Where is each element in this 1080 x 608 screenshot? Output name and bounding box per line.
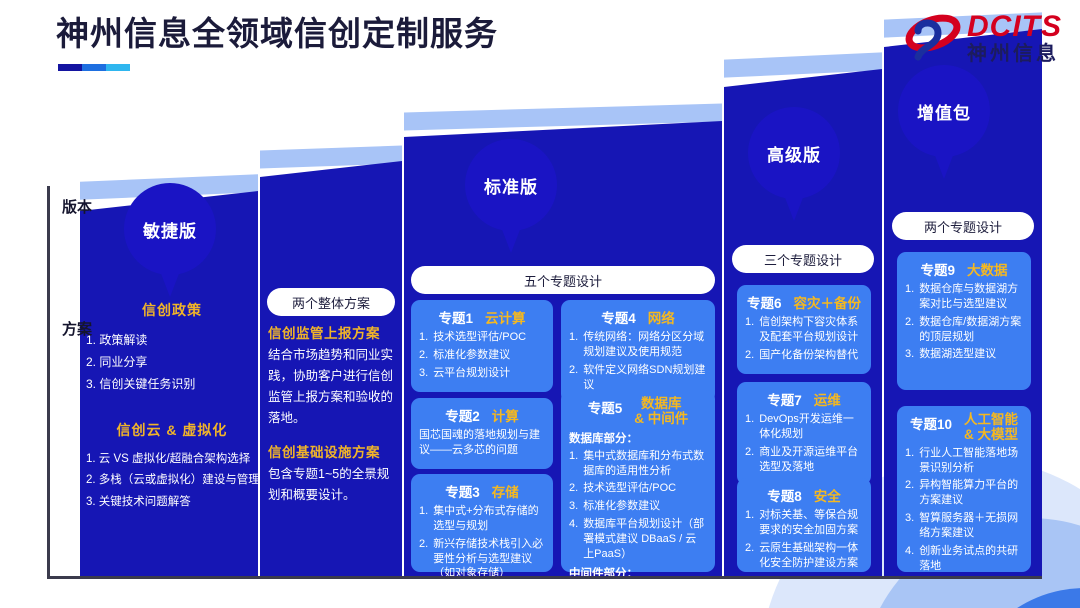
item-number: 1.	[905, 446, 914, 476]
card-header: 专题8 安全	[745, 485, 863, 505]
pin-head-icon: 标准版	[465, 139, 557, 231]
arc-inner	[960, 588, 1080, 608]
item-text: 国产化备份架构替代	[759, 348, 863, 363]
list-item: 2.云原生基础架构一体化安全防护建设方案	[745, 541, 863, 571]
list-item: 1.行业人工智能落地场景识别分析	[905, 446, 1023, 476]
col2-pill-header: 两个整体方案	[267, 288, 395, 316]
topic-card-10[interactable]: 专题10 人工智能 & 大模型 1.行业人工智能落地场景识别分析 2.异构智能算…	[897, 406, 1031, 572]
item-text: 新兴存储技术栈引入必要性分析与选型建议（如对象存储）	[433, 537, 545, 582]
list-item: 2. 同业分享	[86, 351, 258, 373]
item-number: 3.	[905, 347, 914, 362]
spacer	[268, 429, 396, 441]
card-number: 专题3	[445, 481, 480, 501]
item-text: 技术选型评估/POC	[583, 481, 707, 496]
item-number: 2.	[569, 481, 578, 496]
rule-seg-1	[58, 64, 82, 71]
card-list: 1.集中式+分布式存储的选型与规划 2.新兴存储技术栈引入必要性分析与选型建议（…	[419, 504, 545, 581]
col1-block-policy: 信创政策 1. 政策解读 2. 同业分享 3. 信创关键任务识别	[86, 300, 258, 396]
item-number: 4.	[905, 544, 914, 574]
item-text: 数据仓库与数据湖方案对比与选型建议	[919, 282, 1023, 312]
card-topic: 人工智能 & 大模型	[964, 413, 1018, 443]
card-header: 专题3 存储	[419, 481, 545, 501]
list-item: 1.集中式+分布式存储的选型与规划	[419, 504, 545, 534]
card-number: 专题4	[601, 307, 636, 327]
card-header: 专题1 云计算	[419, 307, 545, 327]
col3-pill-header: 五个专题设计	[411, 266, 715, 294]
item-number: 2.	[419, 348, 428, 363]
pin-marker-valueadd[interactable]: 增值包	[898, 65, 990, 183]
item-number: 2.	[745, 445, 754, 475]
item-text: DevOps开发运维一体化规划	[759, 412, 863, 442]
pin-head-icon: 增值包	[898, 65, 990, 157]
list-item: 3.云平台规划设计	[419, 366, 545, 381]
card-topic: 容灾＋备份	[794, 292, 862, 312]
rule-seg-3	[106, 64, 130, 71]
item-number: 1.	[569, 449, 578, 479]
col1-block2-list: 1. 云 VS 虚拟化/超融合架构选择 2. 多栈（云或虚拟化）建设与管理 3.…	[86, 449, 258, 513]
col1-block1-list: 1. 政策解读 2. 同业分享 3. 信创关键任务识别	[86, 329, 258, 396]
col2-block1-body: 结合市场趋势和同业实践，协助客户进行信创监管上报方案和验收的落地。	[268, 345, 396, 429]
card-list: 1.数据仓库与数据湖方案对比与选型建议 2.数据仓库/数据湖方案的顶层规划 3.…	[905, 282, 1023, 362]
card-number: 专题9	[920, 259, 955, 279]
logo-cn: 神州信息	[967, 44, 1062, 64]
card-header: 专题10 人工智能 & 大模型	[905, 413, 1023, 443]
col1-block2-heading: 信创云 & 虚拟化	[86, 420, 258, 440]
card-topic: 存储	[492, 481, 519, 501]
pin-marker-agile[interactable]: 敏捷版	[124, 183, 216, 301]
item-text: 云原生基础架构一体化安全防护建设方案	[759, 541, 863, 571]
item-number: 2.	[745, 541, 754, 571]
card-topic-line1: 人工智能	[964, 412, 1018, 427]
list-item: 1.技术选型评估/POC	[419, 330, 545, 345]
topic-card-5[interactable]: 专题5 数据库 & 中间件 数据库部分： 1.集中式数据库和分布式数据库的适用性…	[561, 390, 715, 572]
card-list: 1.集中式数据库和分布式数据库的适用性分析 2.技术选型评估/POC 3.标准化…	[569, 449, 707, 562]
logo-text: DCITS 神州信息	[967, 10, 1062, 64]
list-item: 2. 多栈（云或虚拟化）建设与管理	[86, 470, 258, 491]
card-header: 专题9 大数据	[905, 259, 1023, 279]
item-number: 3.	[569, 499, 578, 514]
item-number: 1.	[569, 330, 578, 360]
item-number: 3.	[905, 511, 914, 541]
card-topic: 网络	[648, 307, 675, 327]
topic-card-3[interactable]: 专题3 存储 1.集中式+分布式存储的选型与规划 2.新兴存储技术栈引入必要性分…	[411, 474, 553, 572]
card-header: 专题7 运维	[745, 389, 863, 409]
col2-block2-heading: 信创基础设施方案	[268, 441, 396, 461]
card-list: 1.行业人工智能落地场景识别分析 2.异构智能算力平台的方案建议 3.智算服务器…	[905, 446, 1023, 574]
list-item: 2.国产化备份架构替代	[745, 348, 863, 363]
card-number: 专题8	[767, 485, 802, 505]
pin-label: 敏捷版	[143, 217, 197, 242]
card-topic: 计算	[492, 405, 519, 425]
col2-block1-heading: 信创监管上报方案	[268, 322, 396, 342]
card-number: 专题1	[438, 307, 473, 327]
item-number: 2.	[905, 315, 914, 345]
topic-card-8[interactable]: 专题8 安全 1.对标关基、等保合规要求的安全加固方案 2.云原生基础架构一体化…	[737, 478, 871, 572]
list-item: 1.传统网络：网络分区分域规划建议及使用规范	[569, 330, 707, 360]
item-text: 集中式数据库和分布式数据库的适用性分析	[583, 449, 707, 479]
item-text: 信创架构下容灾体系及配套平台规划设计	[759, 315, 863, 345]
card-list: 1.传统网络：网络分区分域规划建议及使用规范 2.软件定义网络SDN规划建议	[569, 330, 707, 392]
axis-vertical	[47, 186, 50, 578]
list-item: 1.对标关基、等保合规要求的安全加固方案	[745, 508, 863, 538]
list-item: 4.数据库平台规划设计（部署模式建议 DBaaS / 云上PaaS）	[569, 517, 707, 562]
card-header: 专题2 计算	[419, 405, 545, 425]
item-text: 标准化参数建议	[433, 348, 545, 363]
list-item: 2.数据仓库/数据湖方案的顶层规划	[905, 315, 1023, 345]
item-text: 智算服务器＋无损网络方案建议	[919, 511, 1023, 541]
item-text: 云平台规划设计	[433, 366, 545, 381]
card-number: 专题5	[588, 397, 623, 417]
item-text: 软件定义网络SDN规划建议	[583, 363, 707, 393]
pin-head-icon: 高级版	[748, 107, 840, 199]
list-item: 2.标准化参数建议	[419, 348, 545, 363]
card-topic: 云计算	[485, 307, 526, 327]
rule-seg-2	[82, 64, 106, 71]
topic-card-2[interactable]: 专题2 计算 国芯国魂的落地规划与建议——云多芯的问题	[411, 398, 553, 469]
item-number: 2.	[745, 348, 754, 363]
card-body: 国芯国魂的落地规划与建议——云多芯的问题	[419, 428, 545, 458]
item-number: 1.	[745, 508, 754, 538]
title-block: 神州信息全领域信创定制服务	[56, 14, 498, 71]
list-item: 1.数据仓库与数据湖方案对比与选型建议	[905, 282, 1023, 312]
list-item: 3. 信创关键任务识别	[86, 373, 258, 395]
card-topic: 运维	[814, 389, 841, 409]
col2-block2-body: 包含专题1~5的全景规划和概要设计。	[268, 464, 396, 506]
card-topic-line1: 数据库	[641, 396, 682, 411]
item-text: 异构智能算力平台的方案建议	[919, 478, 1023, 508]
card-list: 1.对标关基、等保合规要求的安全加固方案 2.云原生基础架构一体化安全防护建设方…	[745, 508, 863, 570]
logo-en: DCITS	[967, 12, 1062, 42]
list-item: 1. 云 VS 虚拟化/超融合架构选择	[86, 449, 258, 470]
list-item: 1. 政策解读	[86, 329, 258, 351]
topic-card-9[interactable]: 专题9 大数据 1.数据仓库与数据湖方案对比与选型建议 2.数据仓库/数据湖方案…	[897, 252, 1031, 390]
item-number: 2.	[905, 478, 914, 508]
topic-card-4[interactable]: 专题4 网络 1.传统网络：网络分区分域规划建议及使用规范 2.软件定义网络SD…	[561, 300, 715, 403]
list-item: 2.异构智能算力平台的方案建议	[905, 478, 1023, 508]
col1-block-cloud: 信创云 & 虚拟化 1. 云 VS 虚拟化/超融合架构选择 2. 多栈（云或虚拟…	[86, 420, 258, 513]
axis-label-version: 版本	[62, 196, 92, 217]
item-text: 创新业务试点的共研落地	[919, 544, 1023, 574]
item-text: 标准化参数建议	[583, 499, 707, 514]
page-title: 神州信息全领域信创定制服务	[56, 14, 498, 54]
axis-label-plan: 方案	[62, 318, 92, 339]
item-number: 3.	[419, 366, 428, 381]
card-topic-line2: & 大模型	[964, 427, 1018, 442]
axis-horizontal	[47, 576, 1042, 579]
pin-head-icon: 敏捷版	[124, 183, 216, 275]
item-text: 数据库平台规划设计（部署模式建议 DBaaS / 云上PaaS）	[583, 517, 707, 562]
company-logo: DCITS 神州信息	[905, 10, 1062, 64]
pin-marker-advanced[interactable]: 高级版	[748, 107, 840, 225]
card-topic-line2: & 中间件	[634, 411, 688, 426]
item-number: 2.	[419, 537, 428, 582]
item-number: 4.	[569, 517, 578, 562]
card-subheading-1: 数据库部分：	[569, 430, 707, 446]
card-header: 专题4 网络	[569, 307, 707, 327]
item-text: 对标关基、等保合规要求的安全加固方案	[759, 508, 863, 538]
topic-card-7[interactable]: 专题7 运维 1.DevOps开发运维一体化规划 2.商业及开源运维平台选型及落…	[737, 382, 871, 485]
item-text: 集中式+分布式存储的选型与规划	[433, 504, 545, 534]
card-header: 专题6 容灾＋备份	[745, 292, 863, 312]
list-item: 1.信创架构下容灾体系及配套平台规划设计	[745, 315, 863, 345]
list-item: 2.商业及开源运维平台选型及落地	[745, 445, 863, 475]
list-item: 4.创新业务试点的共研落地	[905, 544, 1023, 574]
pin-marker-standard[interactable]: 标准版	[465, 139, 557, 257]
card-header: 专题5 数据库 & 中间件	[569, 397, 707, 427]
list-item: 2.新兴存储技术栈引入必要性分析与选型建议（如对象存储）	[419, 537, 545, 582]
item-text: 传统网络：网络分区分域规划建议及使用规范	[583, 330, 707, 360]
card-topic: 安全	[814, 485, 841, 505]
slide-root: 神州信息全领域信创定制服务 DCITS 神州信息 版本 方案	[0, 0, 1080, 608]
card-number: 专题10	[910, 413, 952, 433]
topic-card-6[interactable]: 专题6 容灾＋备份 1.信创架构下容灾体系及配套平台规划设计 2.国产化备份架构…	[737, 285, 871, 374]
col1-block1-heading: 信创政策	[86, 300, 258, 320]
pin-label: 标准版	[484, 173, 538, 198]
list-item: 3. 关键技术问题解答	[86, 492, 258, 513]
dcits-swoosh-icon	[905, 11, 961, 63]
item-number: 1.	[419, 330, 428, 345]
item-number: 1.	[905, 282, 914, 312]
pin-label: 增值包	[917, 99, 971, 124]
list-item: 1.DevOps开发运维一体化规划	[745, 412, 863, 442]
item-number: 2.	[569, 363, 578, 393]
title-rule	[58, 64, 130, 71]
card-number: 专题2	[445, 405, 480, 425]
item-number: 1.	[745, 412, 754, 442]
card-list: 1.DevOps开发运维一体化规划 2.商业及开源运维平台选型及落地	[745, 412, 863, 474]
list-item: 2.技术选型评估/POC	[569, 481, 707, 496]
list-item: 3.标准化参数建议	[569, 499, 707, 514]
col5-pill-header: 两个专题设计	[892, 212, 1034, 240]
list-item: 1.集中式数据库和分布式数据库的适用性分析	[569, 449, 707, 479]
list-item: 3.数据湖选型建议	[905, 347, 1023, 362]
item-text: 技术选型评估/POC	[433, 330, 545, 345]
item-text: 行业人工智能落地场景识别分析	[919, 446, 1023, 476]
pin-label: 高级版	[767, 141, 821, 166]
card-number: 专题7	[767, 389, 802, 409]
list-item: 3.智算服务器＋无损网络方案建议	[905, 511, 1023, 541]
col2-text-block: 信创监管上报方案 结合市场趋势和同业实践，协助客户进行信创监管上报方案和验收的落…	[268, 322, 396, 506]
card-topic: 大数据	[967, 259, 1008, 279]
item-text: 数据仓库/数据湖方案的顶层规划	[919, 315, 1023, 345]
card-list: 1.技术选型评估/POC 2.标准化参数建议 3.云平台规划设计	[419, 330, 545, 381]
item-text: 商业及开源运维平台选型及落地	[759, 445, 863, 475]
card-list: 1.信创架构下容灾体系及配套平台规划设计 2.国产化备份架构替代	[745, 315, 863, 363]
col4-pill-header: 三个专题设计	[732, 245, 874, 273]
card-number: 专题6	[747, 292, 782, 312]
item-text: 数据湖选型建议	[919, 347, 1023, 362]
card-note: 中间件选型策略：云原生优先+传统信创中间件+开源管理	[569, 584, 707, 608]
card-topic: 数据库 & 中间件	[634, 397, 688, 427]
list-item: 2.软件定义网络SDN规划建议	[569, 363, 707, 393]
topic-card-1[interactable]: 专题1 云计算 1.技术选型评估/POC 2.标准化参数建议 3.云平台规划设计	[411, 300, 553, 392]
item-number: 1.	[419, 504, 428, 534]
item-number: 1.	[745, 315, 754, 345]
